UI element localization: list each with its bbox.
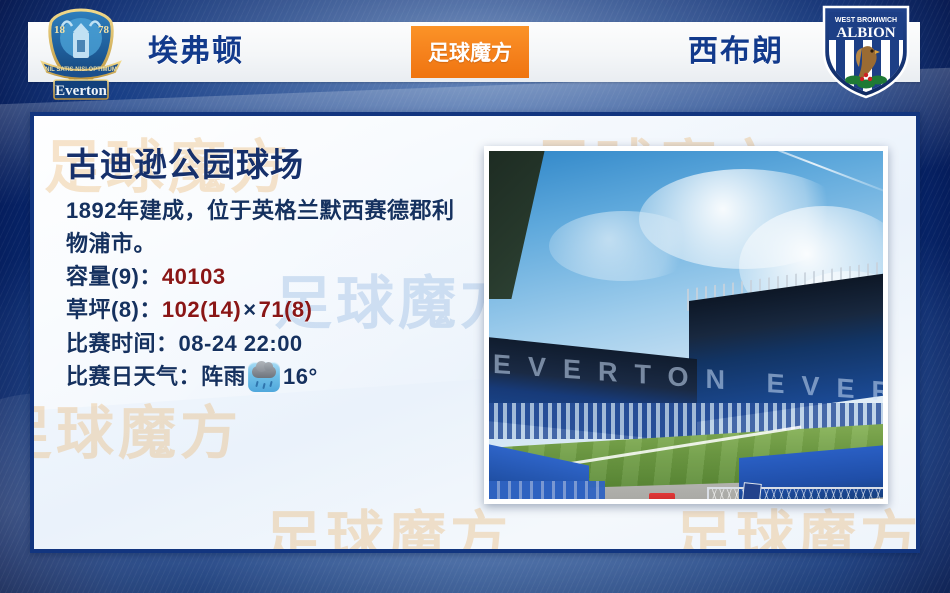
match-weather-row: 比赛日天气：阵雨 16° xyxy=(66,360,476,393)
weather-condition: 阵雨 xyxy=(201,360,246,393)
capacity-row: 容量(9)：40103 xyxy=(66,260,476,293)
svg-text:18: 18 xyxy=(54,24,66,36)
stadium-info-column: 古迪逊公园球场 1892年建成，位于英格兰默西赛德郡利物浦市。 容量(9)：40… xyxy=(66,146,476,394)
svg-text:NIL SATIS NISI OPTIMUM: NIL SATIS NISI OPTIMUM xyxy=(45,67,117,73)
photo-red-equipment xyxy=(649,493,675,499)
capacity-value: 40103 xyxy=(162,264,226,289)
stadium-description: 1892年建成，位于英格兰默西赛德郡利物浦市。 xyxy=(66,194,476,260)
weather-label: 比赛日天气： xyxy=(66,360,201,393)
site-logo-badge[interactable]: 足球魔方 xyxy=(411,26,529,78)
capacity-label: 容量(9)： xyxy=(66,264,162,289)
multiply-symbol: × xyxy=(241,297,258,322)
watermark-text: 足球魔方 xyxy=(264,491,512,553)
match-time-value: 08-24 22:00 xyxy=(179,331,303,356)
svg-text:ALBION: ALBION xyxy=(836,25,895,41)
svg-text:WEST BROMWICH: WEST BROMWICH xyxy=(835,17,897,24)
home-team-name: 埃弗顿 xyxy=(148,28,244,76)
match-time-row: 比赛时间：08-24 22:00 xyxy=(66,327,476,360)
weather-temperature: 16° xyxy=(283,360,318,393)
shower-rain-icon xyxy=(248,362,280,392)
away-team-crest-west-bromwich-albion: WEST BROMWICH ALBION xyxy=(818,4,914,100)
photo-sign-board xyxy=(740,482,762,499)
watermark-text: 足球魔方 xyxy=(30,386,242,470)
stadium-info-panel: 足球魔方 足球魔方 足球魔方 足球魔方 足球魔方 足球魔方 古迪逊公园球场 18… xyxy=(30,112,920,553)
svg-text:Everton: Everton xyxy=(55,83,107,99)
match-header: 18 78 NIL SATIS NISI OPTIMUM Everton 埃弗顿… xyxy=(0,0,950,104)
stadium-photo: EVERTON EVERTON xyxy=(489,151,883,499)
photo-cloud xyxy=(549,211,699,281)
home-team-crest-everton: 18 78 NIL SATIS NISI OPTIMUM Everton xyxy=(32,4,130,102)
stadium-title: 古迪逊公园球场 xyxy=(66,146,476,184)
pitch-width-value: 71(8) xyxy=(259,297,313,322)
photo-lower-seats xyxy=(489,481,605,499)
photo-fence xyxy=(707,487,883,499)
match-time-label: 比赛时间： xyxy=(66,331,179,356)
stadium-photo-frame: EVERTON EVERTON xyxy=(484,146,888,504)
away-team-name: 西布朗 xyxy=(688,28,784,76)
pitch-label: 草坪(8)： xyxy=(66,297,162,322)
svg-text:78: 78 xyxy=(98,24,110,36)
site-logo-text: 足球魔方 xyxy=(428,37,512,67)
pitch-length-value: 102(14) xyxy=(162,297,241,322)
pitch-size-row: 草坪(8)：102(14)×71(8) xyxy=(66,293,476,326)
